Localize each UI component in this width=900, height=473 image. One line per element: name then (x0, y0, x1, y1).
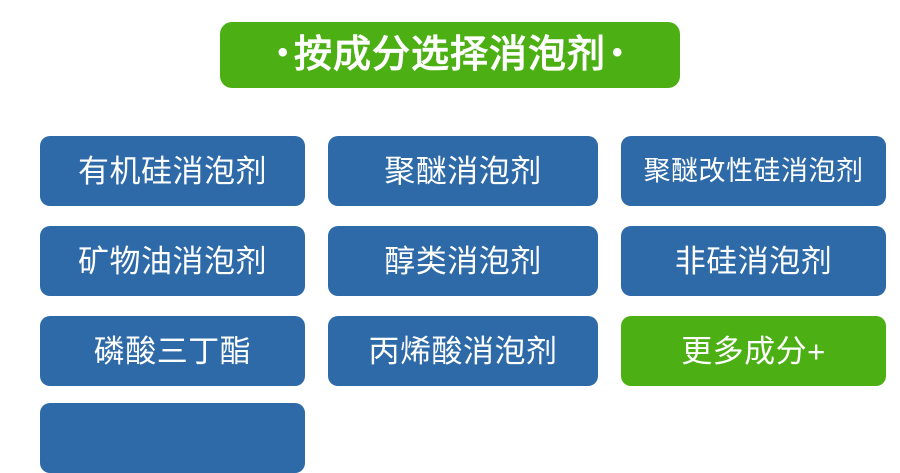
category-button-label: 矿物油消泡剂 (78, 246, 267, 277)
category-button-mineral-oil[interactable]: 矿物油消泡剂 (40, 226, 305, 296)
category-button-partial[interactable] (40, 403, 305, 473)
category-button-more-ingredients[interactable]: 更多成分+ (621, 316, 886, 386)
category-button-tributyl-phosphate[interactable]: 磷酸三丁酯 (40, 316, 305, 386)
category-button-label: 更多成分+ (681, 336, 826, 367)
category-button-label: 丙烯酸消泡剂 (369, 336, 558, 367)
category-button-label: 聚醚消泡剂 (384, 156, 542, 187)
category-button-acrylic[interactable]: 丙烯酸消泡剂 (328, 316, 598, 386)
category-button-non-silicone[interactable]: 非硅消泡剂 (621, 226, 886, 296)
category-button-label: 醇类消泡剂 (384, 246, 542, 277)
page-title: 按成分选择消泡剂 (294, 36, 606, 74)
category-button-partial-placeholder (328, 403, 598, 473)
header-banner: • 按成分选择消泡剂 • (220, 22, 680, 88)
bullet-right-icon: • (612, 38, 623, 68)
category-button-label: 磷酸三丁酯 (94, 336, 252, 367)
header-banner-wrap: • 按成分选择消泡剂 • (0, 22, 900, 88)
category-button-partial-placeholder (621, 403, 886, 473)
category-button-silicone[interactable]: 有机硅消泡剂 (40, 136, 305, 206)
category-button-label: 有机硅消泡剂 (78, 156, 267, 187)
category-button-polyether[interactable]: 聚醚消泡剂 (328, 136, 598, 206)
category-button-alcohol[interactable]: 醇类消泡剂 (328, 226, 598, 296)
category-button-polyether-modified-silicone[interactable]: 聚醚改性硅消泡剂 (621, 136, 886, 206)
category-button-grid: 有机硅消泡剂 聚醚消泡剂 聚醚改性硅消泡剂 矿物油消泡剂 醇类消泡剂 非硅消泡剂… (40, 136, 865, 386)
category-button-label: 非硅消泡剂 (675, 246, 833, 277)
bullet-left-icon: • (277, 38, 288, 68)
page-root: • 按成分选择消泡剂 • 有机硅消泡剂 聚醚消泡剂 聚醚改性硅消泡剂 矿物油消泡… (0, 0, 900, 410)
category-button-grid-next-row (40, 403, 865, 473)
category-button-label: 聚醚改性硅消泡剂 (644, 158, 864, 185)
